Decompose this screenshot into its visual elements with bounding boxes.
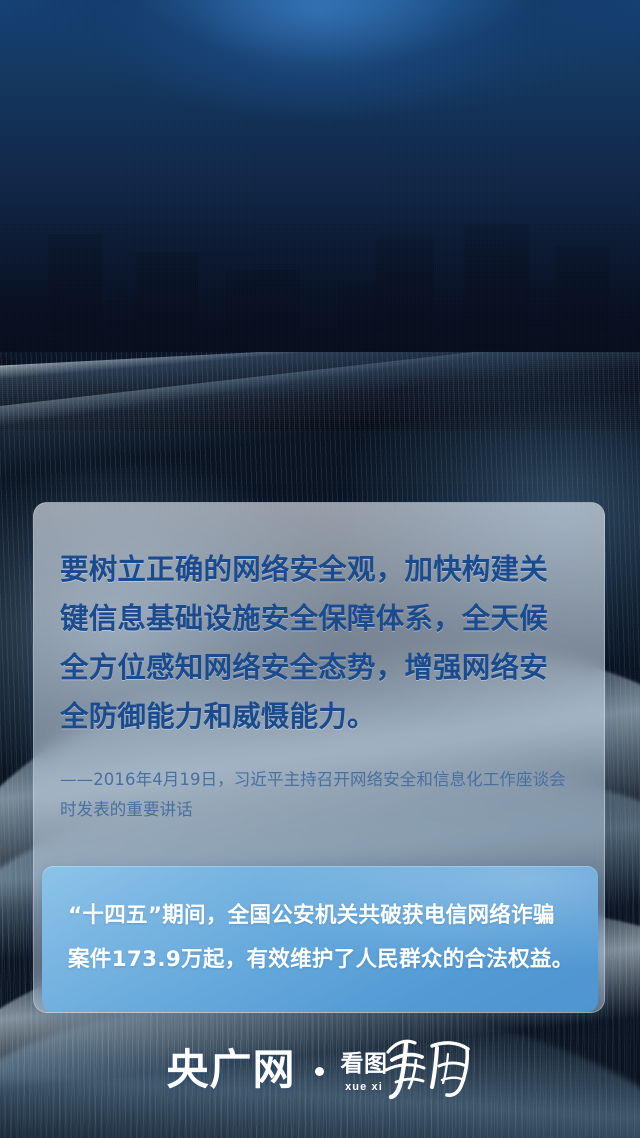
poster-root: 要树立正确的网络安全观，加快构建关键信息基础设施安全保障体系，全天候全方位感知网… [0,0,640,1138]
brand-separator-dot-icon [315,1067,324,1076]
brand-section-kantu: 看图 xue xi [341,1053,388,1093]
brand-name-cnr: 央广网 [166,1049,295,1091]
brand-lockup: 央广网 看图 xue xi [166,1035,473,1105]
brand-section-label: 看图 [341,1053,388,1076]
quote-source-attribution: ——2016年4月19日，习近平主持召开网络安全和信息化工作座谈会时发表的重要讲… [60,765,576,825]
quote-text: 要树立正确的网络安全观，加快构建关键信息基础设施安全保障体系，全天候全方位感知网… [60,545,576,741]
footer-brand-bar: 央广网 看图 xue xi [0,1013,640,1138]
brand-section-pinyin: xue xi [345,1082,383,1093]
fact-highlight-box: “十四五”期间，全国公安机关共破获电信网络诈骗案件173.9万起，有效维护了人民… [42,866,598,1012]
fact-text: “十四五”期间，全国公安机关共破获电信网络诈骗案件173.9万起，有效维护了人民… [42,866,598,982]
brand-script-xuexi-icon [382,1030,474,1100]
